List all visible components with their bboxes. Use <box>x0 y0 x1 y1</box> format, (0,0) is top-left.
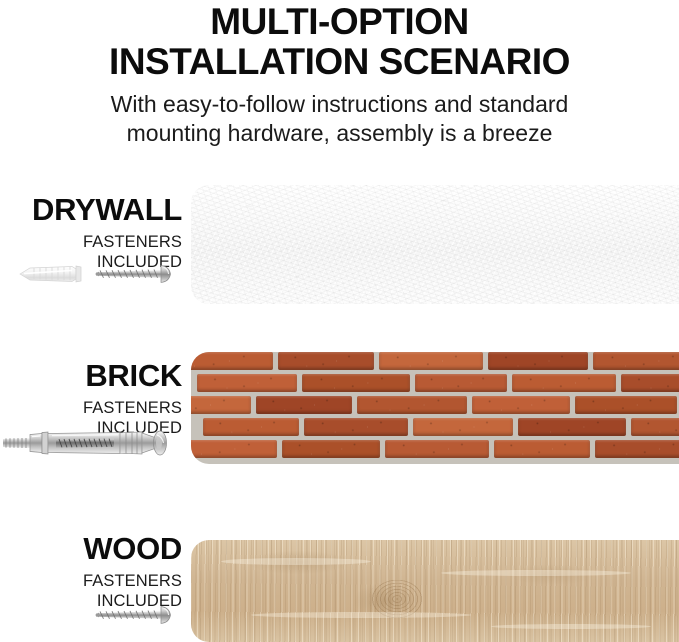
material-name-drywall: DRYWALL <box>0 193 182 227</box>
brick <box>278 352 374 370</box>
infographic-root: MULTI-OPTION INSTALLATION SCENARIO With … <box>0 0 679 642</box>
brick <box>415 374 507 392</box>
brick-hardware <box>0 423 182 463</box>
brick-row <box>191 440 679 462</box>
brick <box>203 418 299 436</box>
brick <box>256 396 352 414</box>
brick <box>494 440 590 458</box>
brick-row <box>191 352 679 374</box>
brick <box>518 418 626 436</box>
header: MULTI-OPTION INSTALLATION SCENARIO With … <box>0 0 679 148</box>
wood-grain-streak <box>441 570 631 576</box>
brick <box>191 396 251 414</box>
page-title: MULTI-OPTION INSTALLATION SCENARIO <box>0 0 679 82</box>
wood-grain-streak <box>221 558 371 565</box>
title-line-1: MULTI-OPTION <box>210 1 468 42</box>
brick-surface-panel <box>191 352 679 464</box>
brick <box>575 396 677 414</box>
section-drywall: DRYWALL FASTENERS INCLUDED <box>0 175 679 315</box>
brick <box>631 418 679 436</box>
wood-grain-streak <box>491 624 651 629</box>
screw-icon <box>95 266 171 283</box>
wood-grain-streak <box>251 612 471 618</box>
wood-surface-panel <box>191 540 679 642</box>
brick <box>379 352 483 370</box>
material-name-brick: BRICK <box>0 359 182 393</box>
drywall-hardware <box>0 257 182 297</box>
brick <box>472 396 570 414</box>
brick <box>191 352 273 370</box>
section-brick: BRICK FASTENERS INCLUDED <box>0 345 679 475</box>
section-wood: WOOD FASTENERS INCLUDED <box>0 520 679 642</box>
brick <box>593 352 679 370</box>
brick <box>304 418 408 436</box>
brick <box>385 440 489 458</box>
brick <box>191 440 277 458</box>
wood-screw-icon <box>0 598 182 632</box>
wood-hardware <box>0 598 182 638</box>
drywall-anchor-icon <box>20 266 81 282</box>
brick <box>357 396 467 414</box>
brick <box>302 374 410 392</box>
page-subtitle: With easy-to-follow instructions and sta… <box>0 82 679 148</box>
subtitle-line-2: mounting hardware, assembly is a breeze <box>0 119 679 148</box>
sleeve-anchor-icon <box>0 423 182 463</box>
brick <box>512 374 616 392</box>
drywall-surface-panel <box>191 185 679 304</box>
subtitle-line-1: With easy-to-follow instructions and sta… <box>0 90 679 119</box>
title-line-2: INSTALLATION SCENARIO <box>0 42 679 82</box>
drywall-fastener-group <box>0 257 182 291</box>
brick <box>282 440 380 458</box>
brick <box>621 374 679 392</box>
brick-row <box>191 374 679 396</box>
material-name-wood: WOOD <box>0 532 182 566</box>
brick <box>595 440 679 458</box>
brick-row <box>191 396 679 418</box>
brick <box>488 352 588 370</box>
brick-row <box>191 418 679 440</box>
brick <box>197 374 297 392</box>
brick <box>413 418 513 436</box>
